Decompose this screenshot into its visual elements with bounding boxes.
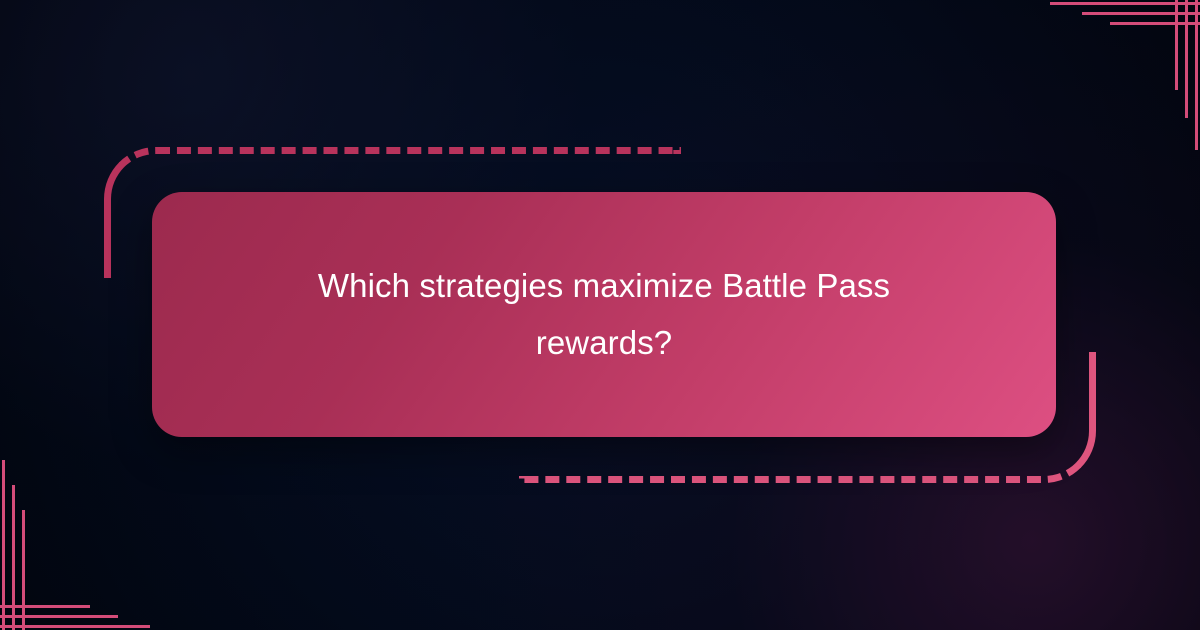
frame-line-vertical [2,460,5,630]
frame-line-horizontal [0,615,118,618]
frame-line-horizontal [1082,12,1200,15]
question-text: Which strategies maximize Battle Pass re… [264,258,944,372]
question-card: Which strategies maximize Battle Pass re… [152,192,1056,437]
frame-line-vertical [1175,0,1178,90]
frame-line-vertical [1185,0,1188,118]
social-card-canvas: Which strategies maximize Battle Pass re… [0,0,1200,630]
frame-line-vertical [1195,0,1198,150]
frame-line-vertical [22,510,25,630]
frame-line-vertical [12,485,15,630]
